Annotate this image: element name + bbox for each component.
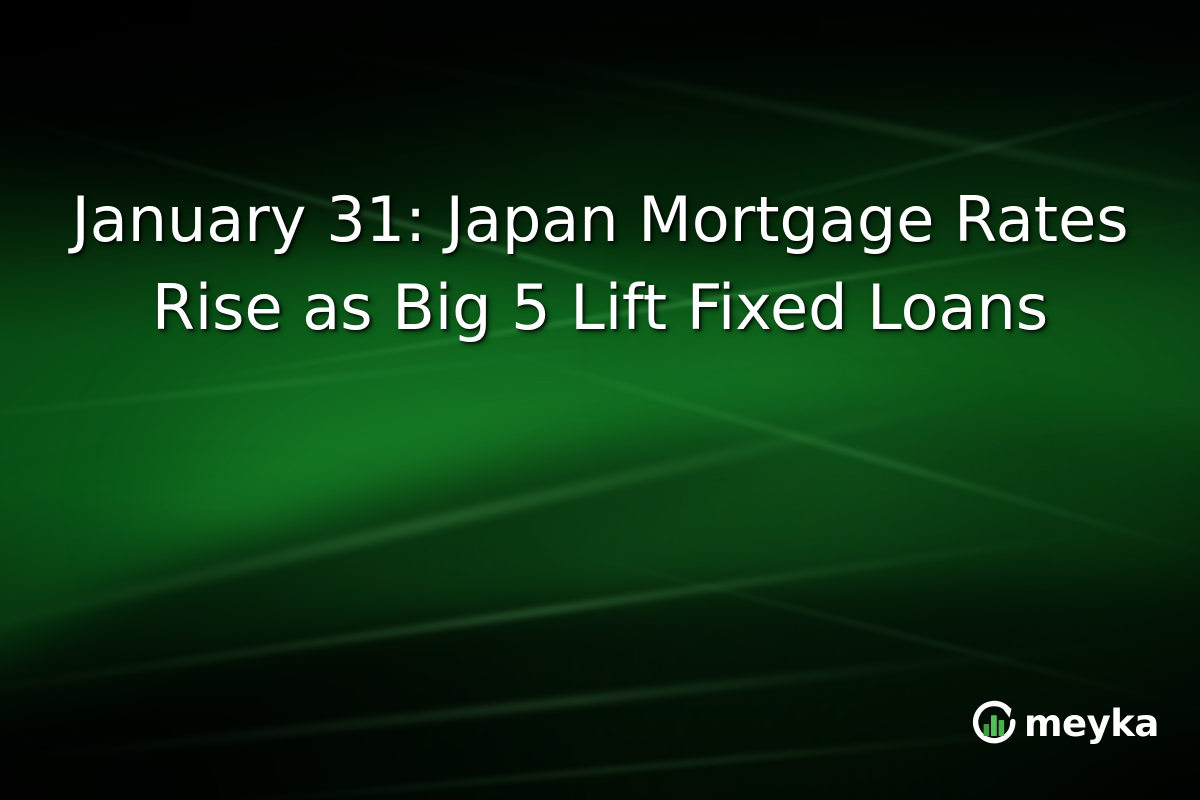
social-share-card: January 31: Japan Mortgage Rates Rise as… xyxy=(0,0,1200,800)
headline-container: January 31: Japan Mortgage Rates Rise as… xyxy=(0,176,1200,352)
brand-wordmark: meyka xyxy=(1024,705,1159,742)
brand-logo[interactable]: meyka xyxy=(968,696,1159,750)
page-title: January 31: Japan Mortgage Rates Rise as… xyxy=(60,176,1140,352)
circular-arrow-bar-chart-icon xyxy=(968,696,1022,750)
background-vignette xyxy=(0,0,1200,800)
